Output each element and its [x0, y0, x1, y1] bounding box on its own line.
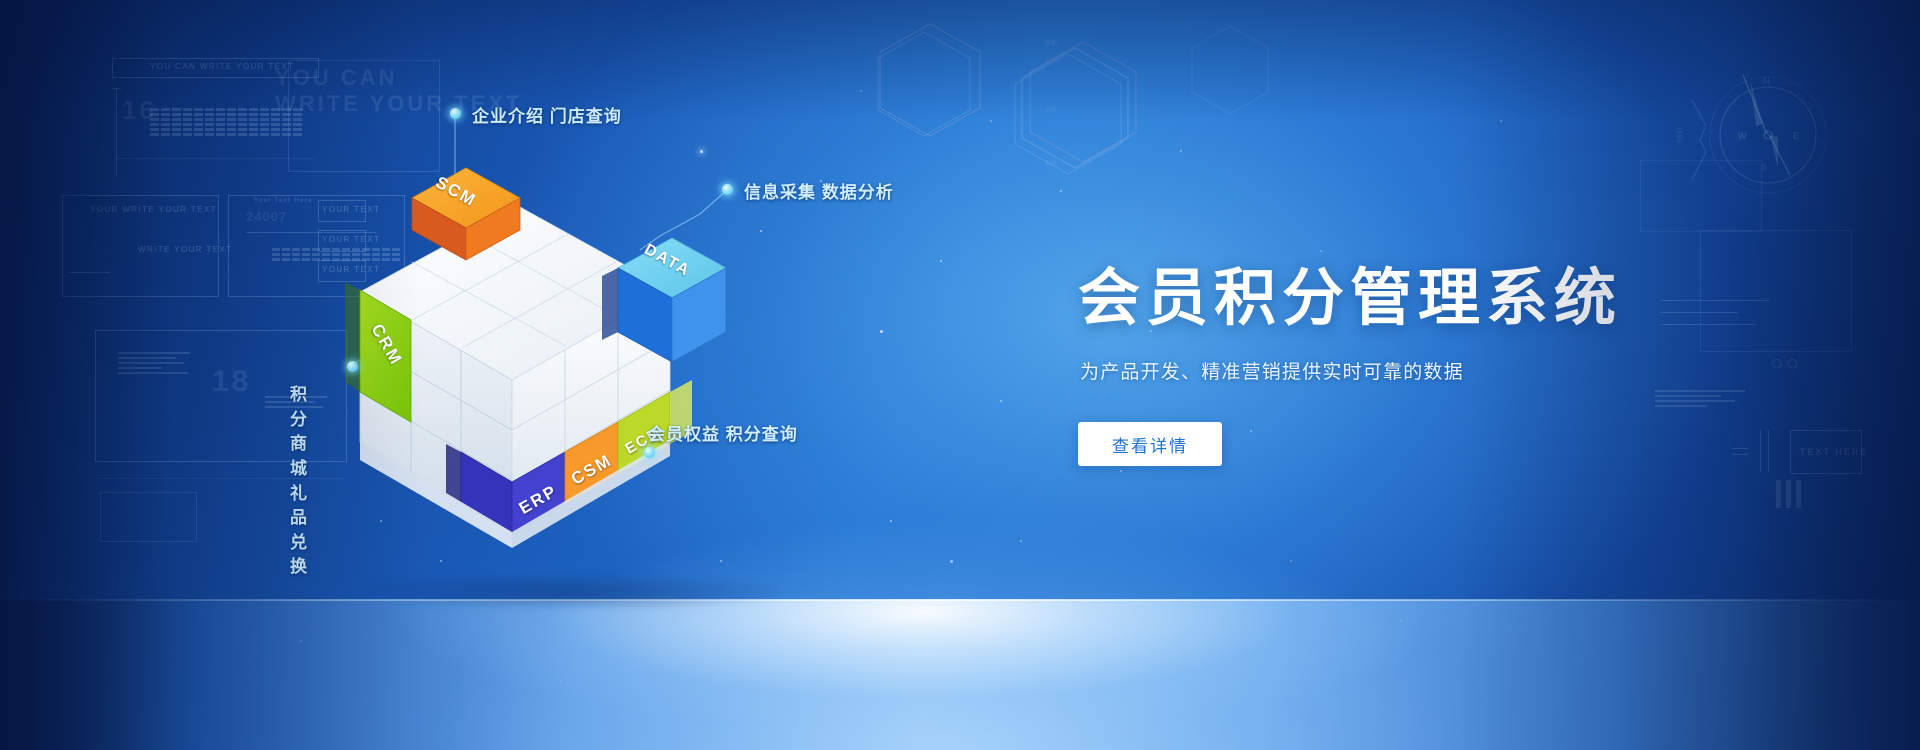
- hero-text-block: 会员积分管理系统 为产品开发、精准营销提供实时可靠的数据 查看详情: [1078, 266, 1818, 466]
- floor-band: [0, 600, 1920, 750]
- hud-your-write-text: YOUR WRITE YOUR TEXT: [90, 205, 217, 214]
- svg-text:数据: 数据: [1045, 39, 1057, 47]
- hexagon-decor-small: [820, 10, 1040, 155]
- hud-you-can: YOU CAN: [275, 62, 397, 94]
- hero-subtitle: 为产品开发、精准营销提供实时可靠的数据: [1080, 357, 1818, 384]
- callout-dot-icon: [644, 447, 655, 458]
- hud-number-18: 18: [212, 360, 251, 404]
- hero-banner: YOU CAN WRITE YOUR TEXT 16 YOU CAN WRITE…: [0, 0, 1920, 750]
- callout-label-member-benefits: 会员权益 积分查询: [648, 420, 798, 445]
- hud-number-24007: 24007: [246, 208, 287, 227]
- callout-label-company-intro: 企业介绍 门店查询: [472, 102, 622, 127]
- compass-e-label: E: [1793, 131, 1799, 141]
- rubiks-cube-illustration: SCM CRM DATA ERP CSM ECM: [340, 150, 760, 550]
- svg-text:分析: 分析: [1045, 106, 1057, 114]
- callout-label-points-mall: 积分商城 礼品兑换: [290, 383, 308, 580]
- svg-text:TEXT: TEXT: [1678, 126, 1684, 142]
- callout-dot-icon: [450, 108, 461, 119]
- compass-n-label: N: [1763, 76, 1770, 86]
- hexagon-decor: 数据 分析 系统: [1000, 20, 1300, 195]
- floor-edge-highlight: [0, 599, 1920, 601]
- cube-shadow: [360, 575, 780, 609]
- hud-caption: WRITE YOUR TEXT: [138, 245, 233, 254]
- callout-dot-icon: [347, 361, 358, 372]
- callout-label-data-collection: 信息采集 数据分析: [744, 178, 894, 203]
- callout-dot-icon: [722, 184, 733, 195]
- compass-w-label: W: [1738, 131, 1747, 141]
- view-details-button[interactable]: 查看详情: [1078, 422, 1222, 466]
- page-title: 会员积分管理系统: [1078, 266, 1818, 331]
- hud-number-16: 16: [122, 92, 157, 130]
- svg-text:系统: 系统: [1045, 159, 1057, 167]
- hud-text-placeholder: YOU CAN WRITE YOUR TEXT: [150, 62, 294, 71]
- compass-s-label: S: [1761, 162, 1767, 172]
